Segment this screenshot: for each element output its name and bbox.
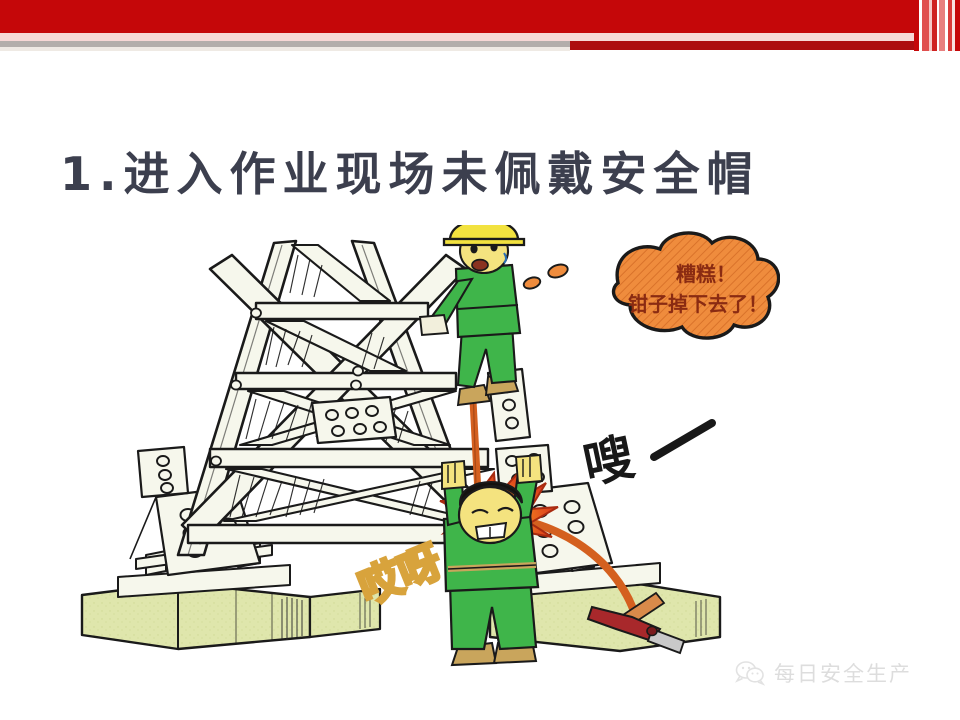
banner-white-gap [570,50,960,56]
gusset-plate-center [312,397,396,443]
worker-lower-hand-left [442,461,466,489]
speech-bubble-tail [522,262,569,290]
worker-upper-torso [456,265,520,337]
banner-gray-bar-light [0,47,575,51]
speech-bubble: 糟糕！ 钳子掉下去了！ [614,233,779,338]
page-title: 1.进入作业现场未佩戴安全帽 [60,138,759,204]
wechat-icon [735,660,765,686]
worker-upper-open-mouth [472,260,488,271]
speech-tail-oval-large [547,262,570,280]
worker-lower-head [459,482,522,543]
whoosh-glyph: 嗖 [578,428,639,495]
aiya-glyph: 哎呀 [352,537,448,614]
safety-illustration: 糟糕！ 钳子掉下去了！ 嗖 [60,225,780,685]
speech-bubble-line1: 糟糕！ [676,262,736,286]
worker-lower-hand-right [516,455,542,483]
watermark-label: 每日安全生产 [774,658,912,688]
aiya-sound-effect: 哎呀 [352,537,448,614]
worker-upper-hand [420,315,448,335]
banner-dark-red-bar [570,41,960,50]
speech-bubble-line2: 钳子掉下去了！ [628,292,768,316]
whoosh-sound-effect: 嗖 [578,423,712,495]
top-banner [0,0,960,56]
banner-stripe-2 [922,0,929,51]
banner-stripe-10 [955,0,960,51]
banner-stripe-accent [914,0,960,51]
pliers-pivot [647,627,657,636]
speech-tail-oval-small [522,275,541,290]
worker-upper-hard-hat [444,225,524,245]
banner-highlight-bar [0,33,960,41]
foundation-left [82,583,310,649]
illustration-canvas: 糟糕！ 钳子掉下去了！ 嗖 [60,225,780,685]
whoosh-motion-line [654,423,712,457]
watermark: 每日安全生产 [735,658,912,688]
banner-red-bar [0,0,960,33]
